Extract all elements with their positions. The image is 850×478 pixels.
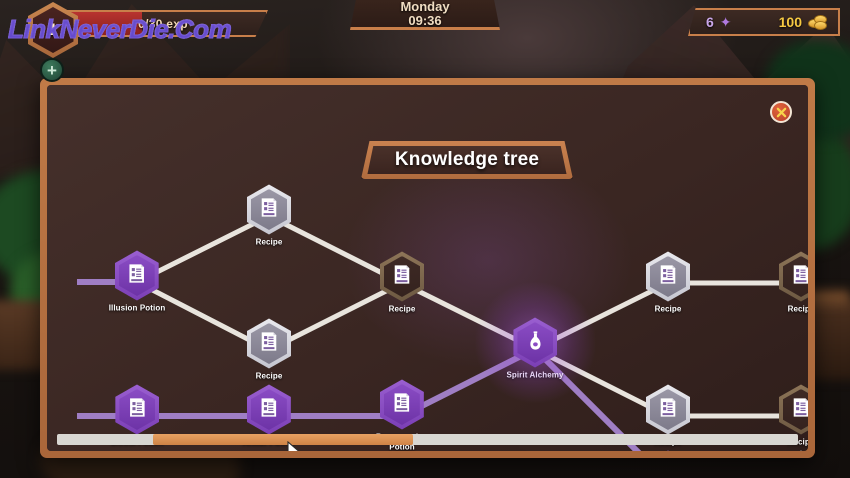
node-hex-border (779, 451, 808, 452)
close-x-glyph (776, 107, 787, 118)
tree-node-spirit-alchemy[interactable]: Spirit Alchemy (506, 318, 563, 381)
panel-title-banner: Knowledge tree (361, 141, 573, 179)
node-label: Spirit Alchemy (506, 371, 563, 381)
knowledge-tree-body: Illusion PotionRecipeRecipeRecipeSpirit … (47, 85, 808, 451)
node-hex-recipe-locked-mid (380, 252, 424, 302)
node-hex-shrink-potion (115, 385, 159, 435)
knowledge-tree-canvas[interactable]: Illusion PotionRecipeRecipeRecipeSpirit … (47, 85, 808, 451)
tree-node-recipe-locked-mid[interactable]: Recipe (380, 252, 424, 315)
tree-node-recipe-top-left[interactable]: Recipe (247, 185, 291, 248)
node-hex-armor-potion (247, 385, 291, 435)
node-hex-blessing-potion (646, 451, 690, 452)
resources-widget: 6 ✦ 100 (688, 8, 840, 36)
node-label: Illusion Potion (109, 304, 166, 314)
tree-node-recipe-locked-tr[interactable]: Recipe (779, 252, 808, 315)
node-hex-recipe-top-right (646, 252, 690, 302)
node-hex-recipe-locked-tr (779, 252, 808, 302)
clock-widget: Monday 09:36 (350, 0, 500, 30)
node-label: Recipe (389, 305, 416, 315)
node-hex-recipe-mid-left (247, 319, 291, 369)
node-label: Recipe (256, 372, 283, 382)
close-icon[interactable] (770, 101, 792, 123)
horizontal-scrollbar[interactable] (57, 434, 798, 445)
exp-bar-label: 0/30 exp (138, 17, 188, 31)
plus-icon[interactable]: + (40, 58, 64, 82)
top-hud: 0/30 exp 1 + Monday 09:36 6 ✦ 100 (0, 0, 850, 46)
level-value: 1 (33, 7, 74, 53)
tree-node-recipe-bottom-right[interactable]: Recipe (779, 451, 808, 452)
node-hex-recipe-mid-right (646, 385, 690, 435)
node-hex-spirit-alchemy (513, 318, 557, 368)
scrollbar-thumb[interactable] (153, 434, 412, 445)
tree-node-recipe-mid-left[interactable]: Recipe (247, 319, 291, 382)
node-hex-recipe-bottom-right (779, 451, 808, 452)
node-hex-recipe-top-left (247, 185, 291, 235)
node-hex-illusion-potion (115, 251, 159, 301)
tree-node-recipe-top-right[interactable]: Recipe (646, 252, 690, 315)
node-hex-recipe-locked-mr (779, 385, 808, 435)
page-title: Knowledge tree (395, 149, 539, 171)
level-badge: 1 (28, 2, 78, 58)
node-hex-border (646, 451, 690, 452)
gems-value: 6 (706, 14, 714, 30)
tree-node-blessing-potion[interactable]: Blessing Potion (637, 451, 699, 452)
node-label: Recipe (788, 305, 808, 315)
node-hex-regeneration-potion (380, 380, 424, 430)
clock-day: Monday (400, 0, 449, 14)
coin-icon (808, 15, 828, 29)
tree-node-illusion-potion[interactable]: Illusion Potion (109, 251, 166, 314)
knowledge-tree-panel: Illusion PotionRecipeRecipeRecipeSpirit … (40, 78, 815, 458)
gold-value: 100 (779, 14, 802, 30)
gem-icon: ✦ (720, 14, 732, 31)
node-label: Recipe (655, 305, 682, 315)
exp-bar: 0/30 exp (58, 10, 268, 37)
node-label: Recipe (256, 238, 283, 248)
clock-time: 09:36 (408, 14, 441, 28)
